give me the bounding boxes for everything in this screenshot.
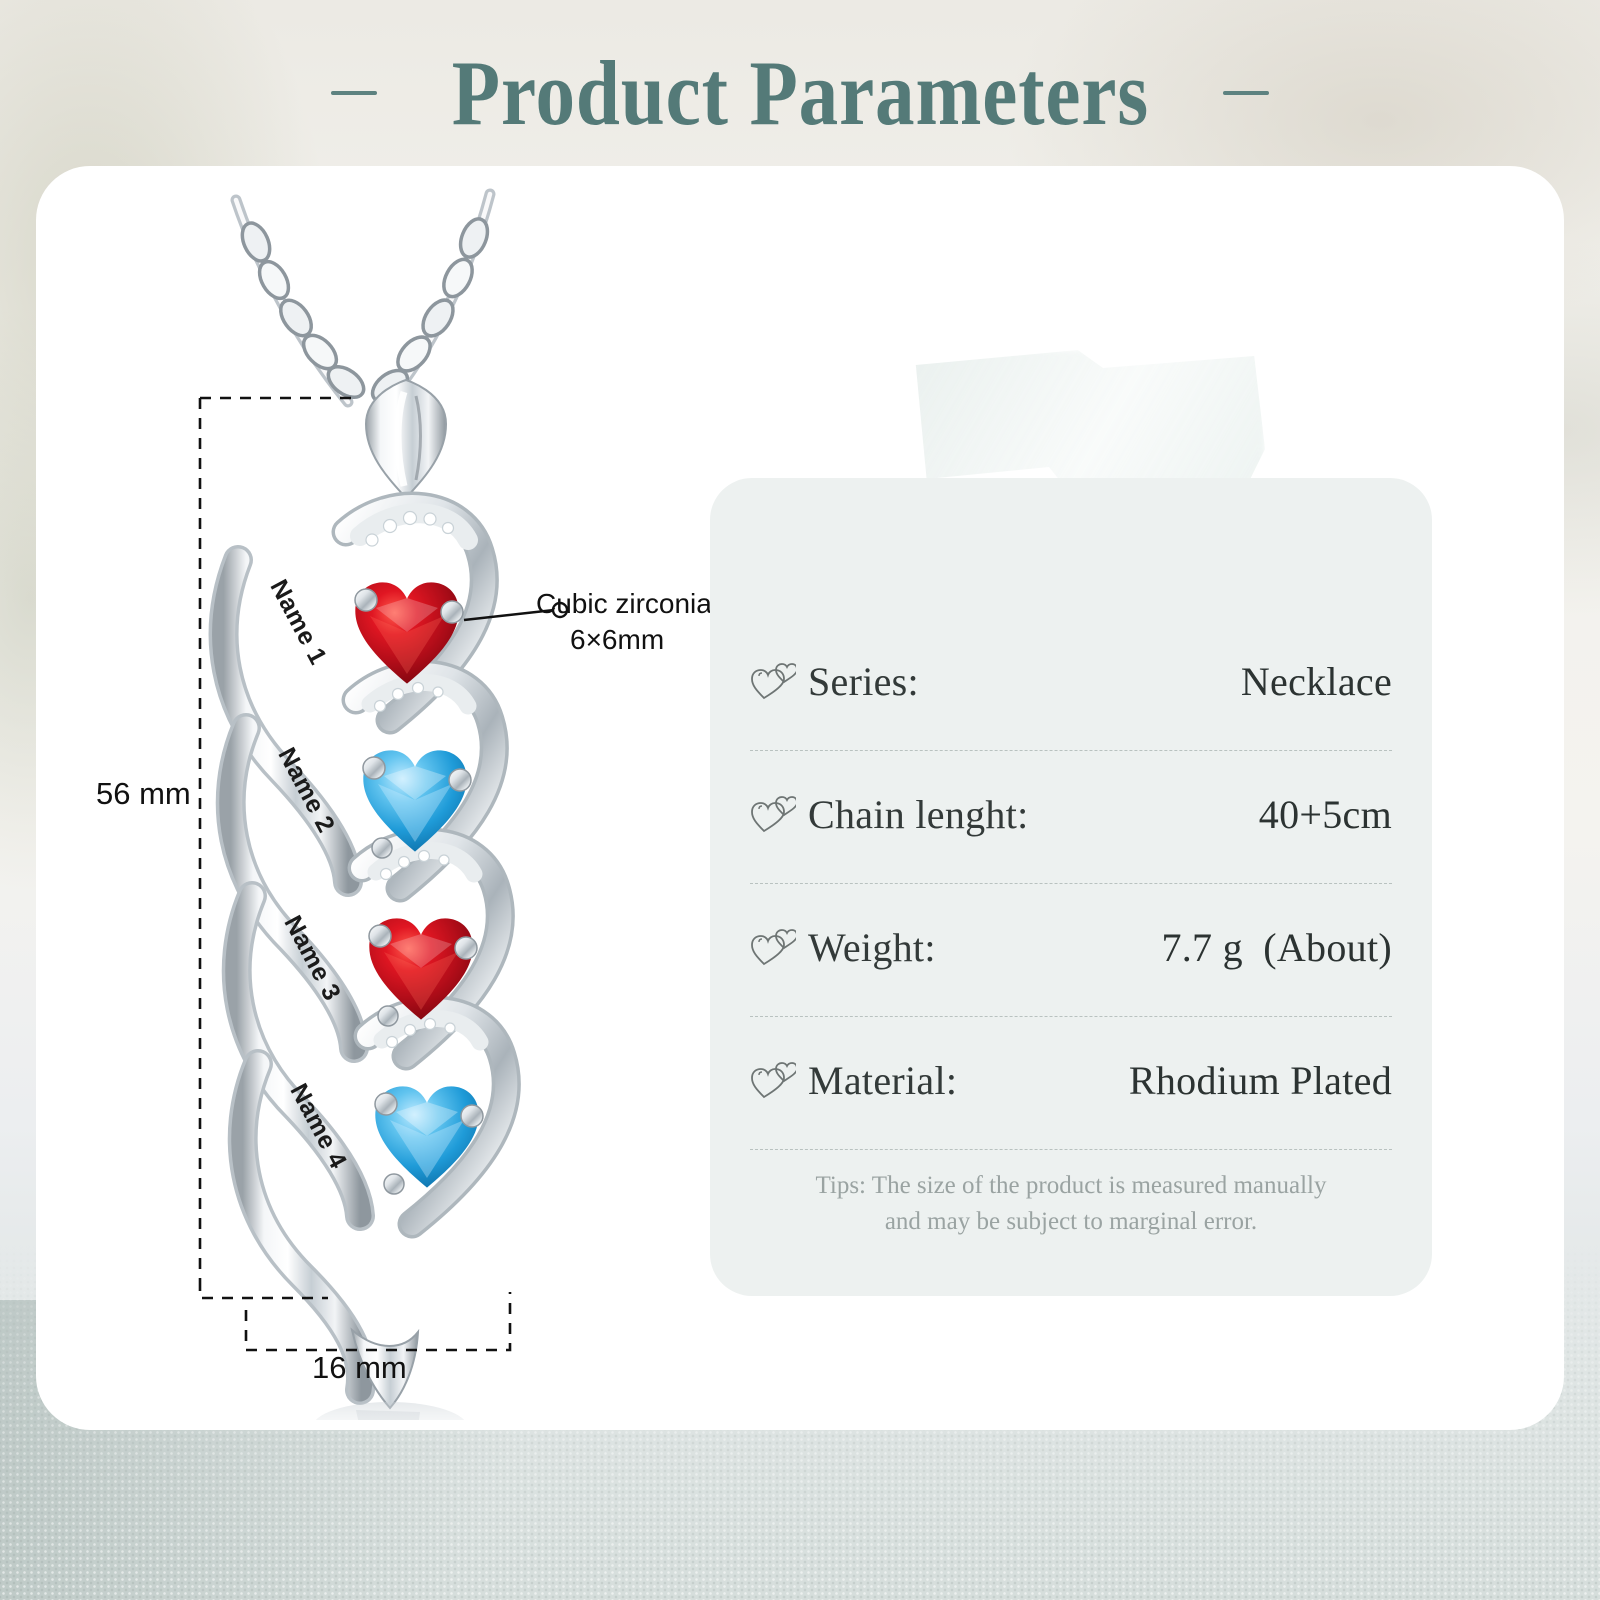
spec-label: Material: <box>808 1057 957 1104</box>
page-title: Product Parameters <box>451 47 1148 139</box>
ribbon-set <box>224 560 361 1390</box>
spec-value: 40+5cm <box>1259 791 1392 838</box>
necklace-chain <box>236 194 490 404</box>
spec-row-series: Series: Necklace <box>750 618 1392 751</box>
spec-row-chain-length: Chain lenght: 40+5cm <box>750 751 1392 884</box>
spec-row-list: Series: Necklace Chain lenght: 40+5cm <box>750 618 1392 1150</box>
spec-value: Necklace <box>1241 658 1392 705</box>
spec-label: Series: <box>808 658 919 705</box>
spec-value: Rhodium Plated <box>1129 1057 1392 1104</box>
spec-label: Weight: <box>808 924 936 971</box>
spec-row-weight: Weight: 7.7 g (About) <box>750 884 1392 1017</box>
callout-cubic-zirconia: Cubic zirconia 6×6mm <box>536 586 712 658</box>
tips-note: Tips: The size of the product is measure… <box>770 1168 1372 1241</box>
title-rule-left <box>331 91 377 95</box>
title-rule-right <box>1223 91 1269 95</box>
tips-line-2: and may be subject to marginal error. <box>770 1204 1372 1240</box>
pendant-body <box>224 506 507 1408</box>
tips-line-1: Tips: The size of the product is measure… <box>770 1168 1372 1204</box>
dimension-width-label: 16 mm <box>312 1350 407 1386</box>
page-title-block: Product Parameters <box>0 38 1600 148</box>
spec-row-material: Material: Rhodium Plated <box>750 1017 1392 1150</box>
dim-width-bracket <box>246 1292 510 1350</box>
spec-panel: Series: Necklace Chain lenght: 40+5cm <box>710 478 1432 1296</box>
chain-links <box>237 215 493 408</box>
infographic-stage: Product Parameters <box>0 0 1600 1600</box>
callout-line-2: 6×6mm <box>536 622 712 658</box>
dimension-height-label: 56 mm <box>96 776 191 812</box>
double-heart-icon <box>750 927 796 967</box>
double-heart-icon <box>750 1060 796 1100</box>
pendant-bail <box>366 380 446 498</box>
spec-label: Chain lenght: <box>808 791 1029 838</box>
double-heart-icon <box>750 661 796 701</box>
callout-line-1: Cubic zirconia <box>536 586 712 622</box>
double-heart-icon <box>750 794 796 834</box>
spec-value: 7.7 g (About) <box>1161 924 1392 971</box>
